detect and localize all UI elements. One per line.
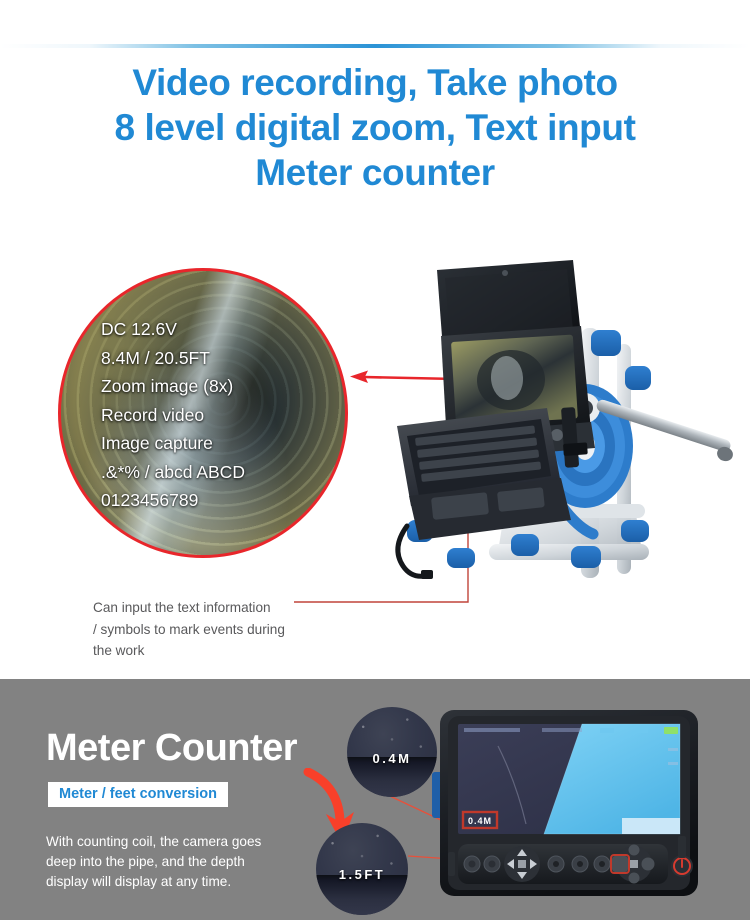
dpad-left	[504, 846, 540, 882]
osd-line-digits: 0123456789	[101, 486, 245, 515]
speaker-right	[678, 836, 686, 858]
headline-line-3: Meter counter	[0, 150, 750, 195]
osd-overlay-text: DC 12.6V 8.4M / 20.5FT Zoom image (8x) R…	[101, 315, 245, 515]
meter-body-line-2: deep into the pipe, and the depth	[46, 852, 276, 872]
meter-readout-value: 0.4M	[347, 751, 437, 766]
headline-line-1: Video recording, Take photo	[0, 60, 750, 105]
top-divider	[0, 44, 750, 48]
product-feature-page: Video recording, Take photo 8 level digi…	[0, 0, 750, 920]
osd-line-distance: 8.4M / 20.5FT	[101, 344, 245, 373]
caption-line-3: the work	[93, 640, 343, 662]
meter-counter-title: Meter Counter	[46, 727, 297, 770]
headline-line-2: 8 level digital zoom, Text input	[0, 105, 750, 150]
osd-line-capture: Image capture	[101, 429, 245, 458]
monitor-screen: 0.4M	[458, 724, 680, 834]
meter-counter-description: With counting coil, the camera goes deep…	[46, 832, 276, 892]
meter-body-line-1: With counting coil, the camera goes	[46, 832, 276, 852]
caption-line-2: / symbols to mark events during	[93, 619, 343, 641]
keyboard-caption: Can input the text information / symbols…	[93, 597, 343, 662]
osd-line-symbols: .&*% / abcd ABCD	[101, 458, 245, 487]
pipe-inspection-device-photo	[385, 258, 745, 588]
osd-line-record: Record video	[101, 401, 245, 430]
conversion-badge: Meter / feet conversion	[48, 782, 228, 807]
feet-readout-value: 1.5FT	[316, 867, 408, 882]
monitor-osd-value: 0.4M	[468, 816, 492, 826]
caption-line-1: Can input the text information	[93, 597, 343, 619]
page-headline: Video recording, Take photo 8 level digi…	[0, 60, 750, 195]
osd-line-voltage: DC 12.6V	[101, 315, 245, 344]
meter-body-line-3: display will display at any time.	[46, 872, 276, 892]
osd-line-zoom: Zoom image (8x)	[101, 372, 245, 401]
speaker-left	[448, 852, 455, 876]
monitor-device: 0.4M	[432, 706, 704, 906]
feet-readout-circle: 1.5FT	[316, 823, 408, 915]
